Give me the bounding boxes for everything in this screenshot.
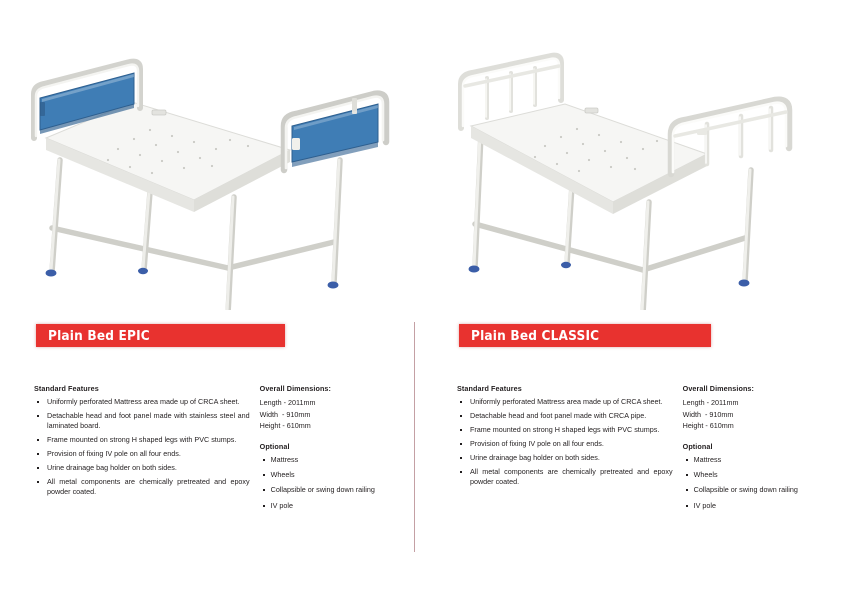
list-item: Detachable head and foot panel made with… <box>34 411 250 432</box>
dimension-height-epic: Height - 610mm <box>260 420 408 432</box>
list-item: Urine drainage bag holder on both sides. <box>457 453 673 463</box>
list-item: Wheels <box>260 470 408 480</box>
list-item: Collapsible or swing down railing <box>683 485 831 495</box>
spec-block-epic: Standard Features Uniformly perforated M… <box>34 384 408 516</box>
pvc-stumps-epic <box>46 268 339 310</box>
pvc-stumps-classic <box>469 262 750 310</box>
dimension-height-classic: Height - 610mm <box>683 420 831 432</box>
optional-list-classic: Mattress Wheels Collapsible or swing dow… <box>683 455 831 512</box>
features-heading-epic: Standard Features <box>34 384 250 393</box>
product-title-banner-epic: Plain Bed EPIC <box>36 324 285 347</box>
product-photo-classic <box>445 42 825 310</box>
list-item: Mattress <box>260 455 408 465</box>
list-item: IV pole <box>683 501 831 511</box>
list-item: Frame mounted on strong H shaped legs wi… <box>457 425 673 435</box>
dimension-width-classic: Width - 910mm <box>683 409 831 421</box>
list-item: Wheels <box>683 470 831 480</box>
list-item: All metal components are chemically pret… <box>457 467 673 488</box>
features-list-epic: Uniformly perforated Mattress area made … <box>34 397 250 498</box>
list-item: Frame mounted on strong H shaped legs wi… <box>34 435 250 445</box>
list-item: Provision of fixing IV pole on all four … <box>457 439 673 449</box>
dimension-length-classic: Length - 2011mm <box>683 397 831 409</box>
list-item: Collapsible or swing down railing <box>260 485 408 495</box>
list-item: Mattress <box>683 455 831 465</box>
list-item: Detachable head and foot panel made with… <box>457 411 673 421</box>
features-list-classic: Uniformly perforated Mattress area made … <box>457 397 673 487</box>
features-heading-classic: Standard Features <box>457 384 673 393</box>
list-item: Provision of fixing IV pole on all four … <box>34 449 250 459</box>
features-column-classic: Standard Features Uniformly perforated M… <box>457 384 673 516</box>
list-item: Urine drainage bag holder on both sides. <box>34 463 250 473</box>
bed-illustration-classic <box>445 42 825 310</box>
list-item: Uniformly perforated Mattress area made … <box>34 397 250 407</box>
product-title-epic-text: Plain Bed EPIC <box>48 328 161 344</box>
spec-block-classic: Standard Features Uniformly perforated M… <box>457 384 831 516</box>
optional-heading-epic: Optional <box>260 442 408 451</box>
optional-list-epic: Mattress Wheels Collapsible or swing dow… <box>260 455 408 512</box>
dimensions-heading-classic: Overall Dimensions: <box>683 384 831 393</box>
dimensions-column-epic: Overall Dimensions: Length - 2011mm Widt… <box>260 384 408 516</box>
panel-divider <box>414 322 415 552</box>
product-title-classic-text: Plain Bed CLASSIC <box>471 328 614 344</box>
list-item: Uniformly perforated Mattress area made … <box>457 397 673 407</box>
list-item: All metal components are chemically pret… <box>34 477 250 498</box>
catalog-page: Plain Bed EPIC Standard Features Uniform… <box>0 0 846 594</box>
foot-panel-epic <box>284 94 386 170</box>
dimensions-heading-epic: Overall Dimensions: <box>260 384 408 393</box>
product-panel-epic: Plain Bed EPIC Standard Features Uniform… <box>0 0 423 594</box>
list-item: IV pole <box>260 501 408 511</box>
dimensions-column-classic: Overall Dimensions: Length - 2011mm Widt… <box>683 384 831 516</box>
product-panel-classic: Plain Bed CLASSIC Standard Features Unif… <box>423 0 846 594</box>
features-column-epic: Standard Features Uniformly perforated M… <box>34 384 250 516</box>
optional-heading-classic: Optional <box>683 442 831 451</box>
dimension-width-epic: Width - 910mm <box>260 409 408 421</box>
dimension-length-epic: Length - 2011mm <box>260 397 408 409</box>
bed-illustration-epic <box>22 42 402 310</box>
product-title-banner-classic: Plain Bed CLASSIC <box>459 324 711 347</box>
product-photo-epic <box>22 42 402 310</box>
